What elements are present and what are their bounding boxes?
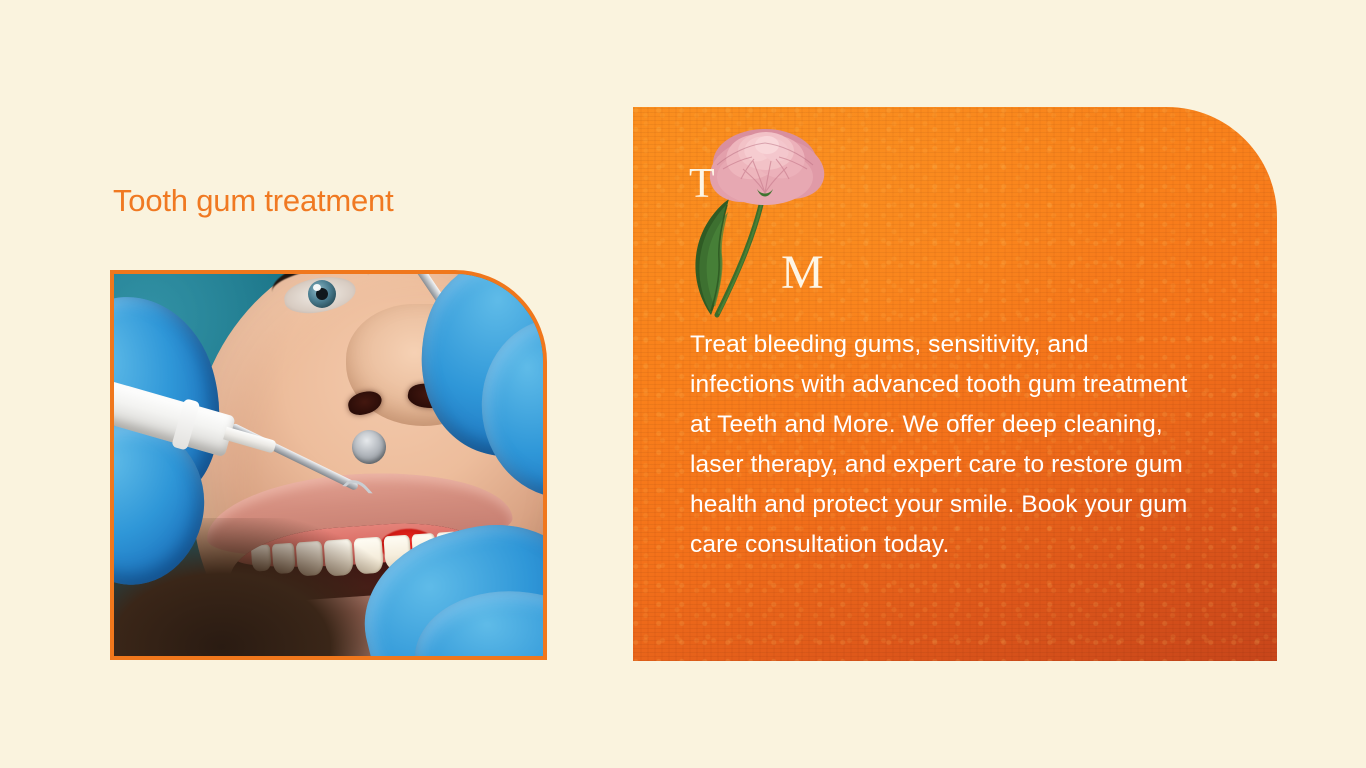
dental-photo-frame [110,270,547,660]
syringe-tip [223,427,277,454]
slide-canvas: Tooth gum treatment [0,0,1366,768]
logo-letter-t: T [689,163,715,205]
page-title: Tooth gum treatment [113,183,394,219]
brand-logo: T M [653,119,883,339]
peony-flower-icon [653,119,883,339]
logo-letter-m: M [781,249,824,297]
panel-body-text: Treat bleeding gums, sensitivity, and in… [690,325,1190,565]
info-panel: T M Treat bleeding gums, sensitivity, an… [633,107,1277,661]
dental-gum-treatment-photo [114,274,543,656]
patient-eye [264,274,374,324]
